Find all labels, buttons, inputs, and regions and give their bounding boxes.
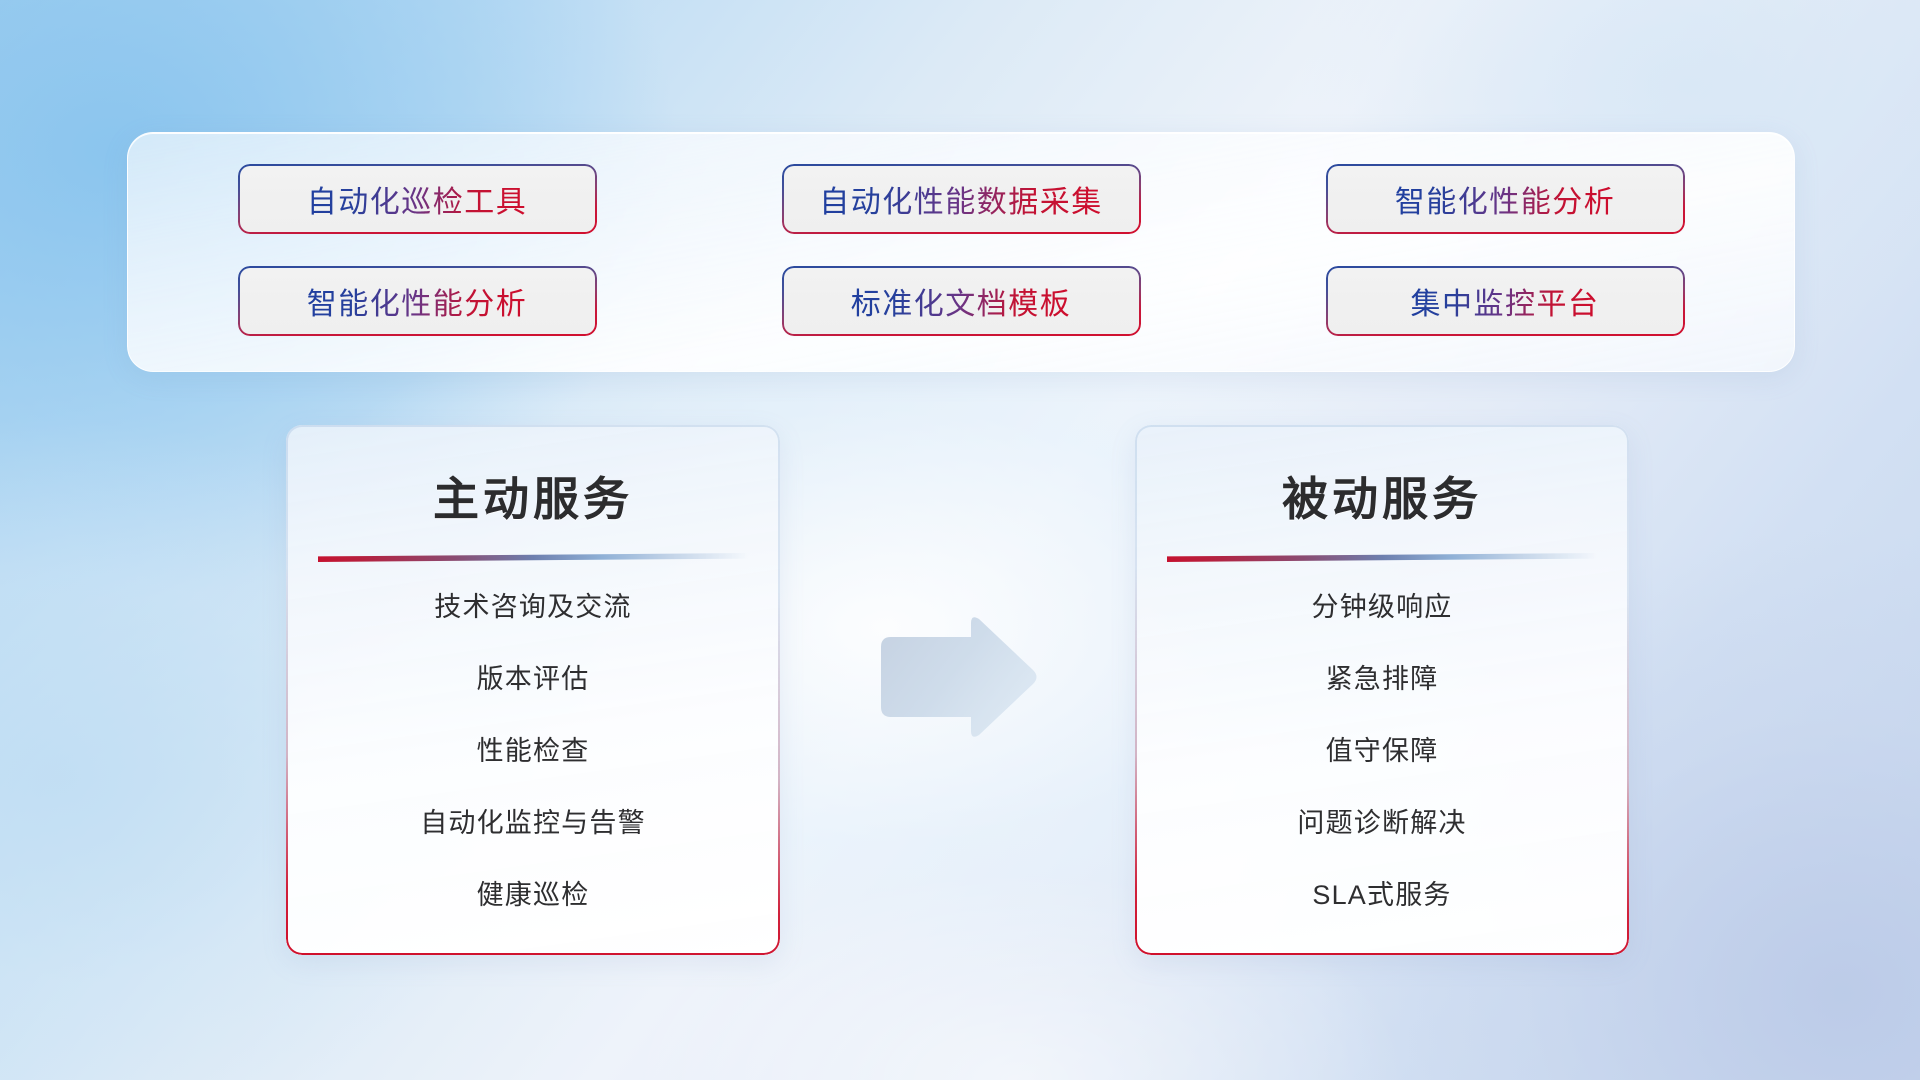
- title-underline-bar: [1167, 553, 1597, 562]
- list-item: 版本评估: [286, 666, 780, 693]
- capability-tag-label: 集中监控平台: [1411, 279, 1600, 323]
- capability-tag-1[interactable]: 自动化巡检工具: [240, 166, 595, 232]
- capability-tag-2[interactable]: 自动化性能数据采集: [784, 166, 1139, 232]
- slide-canvas: 自动化巡检工具 自动化性能数据采集 智能化性能分析 智能化性能分析 标准化文档模…: [0, 0, 1920, 1080]
- right-arrow-icon: [873, 613, 1039, 741]
- title-underline-bar: [318, 553, 748, 562]
- capability-tag-5[interactable]: 标准化文档模板: [784, 268, 1139, 334]
- service-item-list: 技术咨询及交流 版本评估 性能检查 自动化监控与告警 健康巡检: [286, 594, 780, 909]
- capability-tag-label: 智能化性能分析: [1395, 177, 1616, 221]
- list-item: 技术咨询及交流: [286, 594, 780, 621]
- list-item: 分钟级响应: [1135, 594, 1629, 621]
- service-card-proactive: 主动服务 技术咨询及交流 版本评估 性能检查 自动化监控与告警 健康巡检: [286, 425, 780, 955]
- capability-tag-grid: 自动化巡检工具 自动化性能数据采集 智能化性能分析 智能化性能分析 标准化文档模…: [128, 133, 1794, 371]
- capability-tag-label: 自动化巡检工具: [307, 177, 528, 221]
- capability-tag-6[interactable]: 集中监控平台: [1328, 268, 1683, 334]
- list-item: SLA式服务: [1135, 882, 1629, 909]
- capability-tag-3[interactable]: 智能化性能分析: [1328, 166, 1683, 232]
- list-item: 紧急排障: [1135, 666, 1629, 693]
- service-item-list: 分钟级响应 紧急排障 值守保障 问题诊断解决 SLA式服务: [1135, 594, 1629, 909]
- list-item: 自动化监控与告警: [286, 810, 780, 837]
- capability-tag-4[interactable]: 智能化性能分析: [240, 268, 595, 334]
- list-item: 问题诊断解决: [1135, 810, 1629, 837]
- capability-tag-label: 自动化性能数据采集: [819, 177, 1103, 221]
- service-card-reactive: 被动服务 分钟级响应 紧急排障 值守保障 问题诊断解决 SLA式服务: [1135, 425, 1629, 955]
- service-card-title: 被动服务: [1135, 463, 1629, 529]
- capability-panel: 自动化巡检工具 自动化性能数据采集 智能化性能分析 智能化性能分析 标准化文档模…: [127, 132, 1795, 372]
- service-card-title: 主动服务: [286, 463, 780, 529]
- list-item: 健康巡检: [286, 882, 780, 909]
- capability-tag-label: 标准化文档模板: [851, 279, 1072, 323]
- list-item: 性能检查: [286, 738, 780, 765]
- list-item: 值守保障: [1135, 738, 1629, 765]
- capability-tag-label: 智能化性能分析: [307, 279, 528, 323]
